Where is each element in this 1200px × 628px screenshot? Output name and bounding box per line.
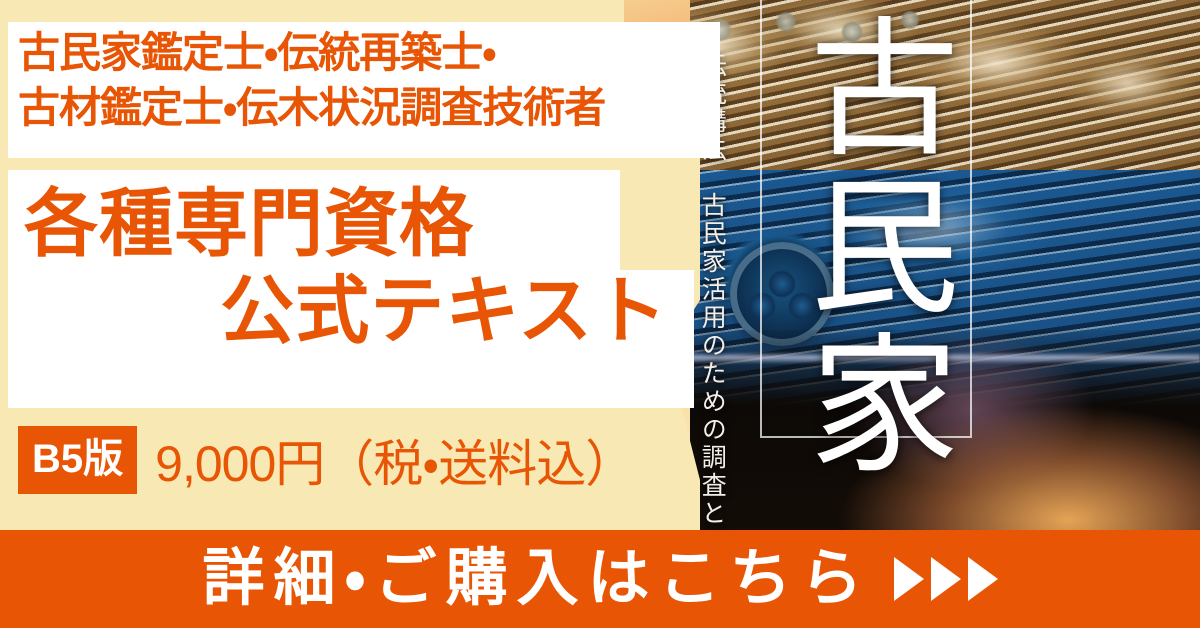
cta-bar[interactable]: 詳細・ご購入はこちら <box>0 530 1200 628</box>
chevron-right-icon <box>968 557 998 601</box>
chevron-right-icon <box>894 557 924 601</box>
promo-banner: 伝統構法 古民家活用のための調査と再生の 古民家 古民家鑑定士・伝統再築士・ 古… <box>0 0 1200 628</box>
size-badge: B5版 <box>18 426 137 494</box>
qualifications-list-text: 古民家鑑定士・伝統再築士・ 古材鑑定士・伝木状況調査技術者 <box>18 26 724 135</box>
cta-arrows <box>894 557 998 601</box>
headline: 各種専門資格 公式テキスト <box>18 180 686 355</box>
headline-line-2: 公式テキスト <box>18 267 686 354</box>
price-row: B5版 9,000円（税・送料込） <box>18 424 634 496</box>
chevron-right-icon <box>931 557 961 601</box>
cta-label: 詳細・ご購入はこちら <box>202 548 871 610</box>
book-cover-title: 古民家 <box>778 10 954 484</box>
headline-line-1: 各種専門資格 <box>18 180 686 267</box>
price-text: 9,000円（税・送料込） <box>155 424 634 496</box>
